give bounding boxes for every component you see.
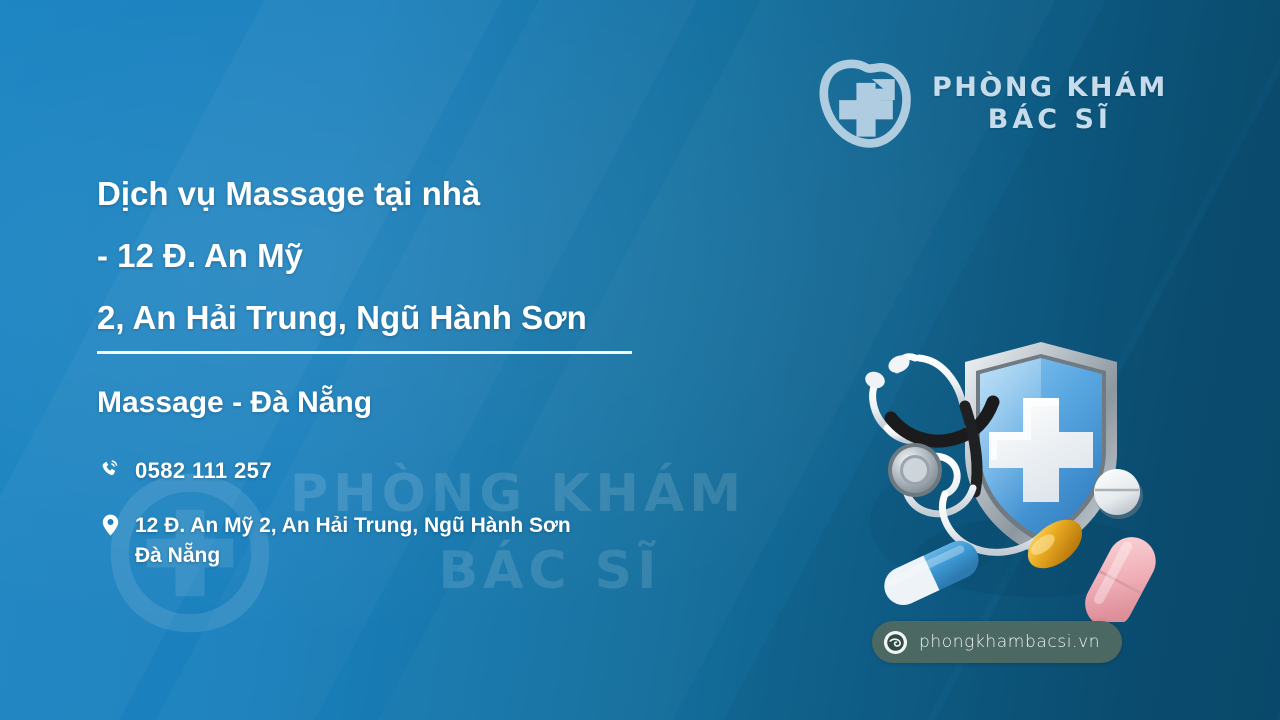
- stethoscope-chestpiece: [888, 443, 942, 497]
- website-badge[interactable]: phongkhambacsi.vn: [872, 621, 1122, 663]
- phone-number: 0582 111 257: [135, 456, 272, 486]
- title-line-1: Dịch vụ Massage tại nhà: [97, 163, 797, 225]
- website-url: phongkhambacsi.vn: [919, 632, 1100, 652]
- subtitle: Massage - Đà Nẵng: [97, 386, 372, 420]
- phone-row[interactable]: 0582 111 257: [99, 456, 272, 486]
- address-line-2: Đà Nẵng: [135, 541, 571, 571]
- globe-icon: [883, 630, 908, 655]
- title-divider: [97, 351, 632, 354]
- white-round-tablet: [1094, 469, 1143, 519]
- medical-shield-stethoscope-pills-illustration: [845, 322, 1175, 622]
- title-line-2: - 12 Đ. An Mỹ: [97, 225, 797, 287]
- map-pin-icon: [99, 511, 121, 536]
- address-text: 12 Đ. An Mỹ 2, An Hải Trung, Ngũ Hành Sơ…: [135, 511, 571, 571]
- bg-diagonal-band: [0, 0, 563, 720]
- medical-cross-heart-icon: [818, 58, 914, 150]
- title-line-3: 2, An Hải Trung, Ngũ Hành Sơn: [97, 287, 797, 349]
- phone-ringing-icon: [99, 456, 121, 479]
- address-line-1: 12 Đ. An Mỹ 2, An Hải Trung, Ngũ Hành Sơ…: [135, 514, 571, 537]
- stethoscope: [873, 357, 963, 441]
- brand-logo: PHÒNG KHÁM BÁC SĨ: [818, 58, 1168, 150]
- logo-text: PHÒNG KHÁM BÁC SĨ: [932, 72, 1168, 136]
- address-row[interactable]: 12 Đ. An Mỹ 2, An Hải Trung, Ngũ Hành Sơ…: [99, 511, 571, 571]
- logo-line1: PHÒNG KHÁM: [932, 72, 1168, 104]
- page-title: Dịch vụ Massage tại nhà - 12 Đ. An Mỹ 2,…: [97, 163, 797, 349]
- promotional-banner: PHÒNG KHÁM BÁC SĨ PHÒNG KHÁM BÁC SĨ Dịch…: [0, 0, 1280, 720]
- logo-line2: BÁC SĨ: [932, 104, 1168, 136]
- bg-diagonal-band: [33, 0, 767, 720]
